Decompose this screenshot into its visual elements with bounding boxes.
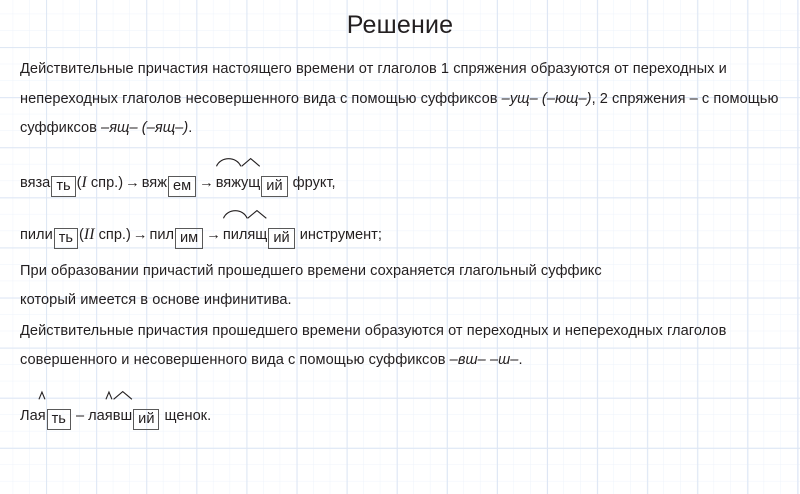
paragraph-present-tense-part4: . bbox=[188, 120, 192, 136]
example-pilit-ending-box: ть bbox=[54, 228, 78, 249]
body-block: Действительные причастия настоящего врем… bbox=[20, 55, 780, 431]
example-pilit: пилить(II спр.)→пилим→пилящий инструмент… bbox=[20, 220, 780, 251]
page-title: Решение bbox=[0, 0, 800, 40]
paragraph-present-tense: Действительные причастия настоящего врем… bbox=[20, 55, 780, 144]
example-vyazat-arrow-1: → bbox=[123, 175, 142, 191]
example-layavshiy-participle-suffix-marked: вш bbox=[113, 402, 132, 432]
suffix-caret-icon bbox=[241, 158, 260, 167]
suffix-yasch: –ящ– (–ящ–) bbox=[101, 120, 188, 136]
paragraph-past-tense-part1: Действительные причастия прошедшего врем… bbox=[20, 323, 726, 369]
example-vyazat-ending-box: ть bbox=[51, 176, 75, 197]
paragraph-past-tense-rule-line2: который имеется в основе инфинитива. bbox=[20, 292, 292, 308]
example-pilit-suffix: ящ bbox=[247, 227, 267, 243]
example-layat-dash: – bbox=[76, 408, 84, 424]
example-pilit-suffix-marked: ящ bbox=[247, 221, 267, 251]
suffix-caret-icon bbox=[38, 391, 46, 400]
example-layavshiy-ending-box: ий bbox=[133, 409, 159, 430]
example-pilit-ending-box-3: ий bbox=[268, 228, 294, 249]
example-vyazat-ending-box-2: ем bbox=[168, 176, 196, 197]
paragraph-past-tense: Действительные причастия прошедшего врем… bbox=[20, 317, 780, 376]
suffix-usch: –ущ– bbox=[502, 91, 538, 107]
example-pilit-present-form: пилим bbox=[149, 221, 204, 251]
example-vyazat-root-marked: вяж bbox=[216, 169, 241, 199]
example-vyazat-infinitive: вязать bbox=[20, 169, 77, 199]
example-vyazat-arrow-2: → bbox=[197, 175, 216, 191]
paragraph-past-tense-rule: При образовании причастий прошедшего вре… bbox=[20, 257, 780, 316]
example-vyazat: вязать(I спр.)→вяжем→вяжущий фрукт, bbox=[20, 168, 780, 199]
example-layat: Лаять – лаявший щенок. bbox=[20, 402, 780, 432]
example-layavshiy-noun: щенок. bbox=[165, 408, 212, 424]
example-pilit-root: пил bbox=[223, 227, 248, 243]
example-layat-stem: Ла bbox=[20, 408, 38, 424]
example-pilit-root-marked: пил bbox=[223, 221, 248, 251]
example-layat-infinitive: Лаять bbox=[20, 402, 72, 432]
suffix-sh: –ш– bbox=[490, 352, 519, 368]
paragraph-past-tense-rule-line1: При образовании причастий прошедшего вре… bbox=[20, 263, 602, 279]
example-layat-suffix-marked: я bbox=[38, 402, 46, 432]
example-vyazat-participle: вяжущий bbox=[216, 169, 289, 199]
example-vyazat-root: вяж bbox=[216, 175, 241, 191]
suffix-yusch: (–ющ–) bbox=[542, 91, 592, 107]
example-pilit-conj-label: спр.) bbox=[95, 227, 131, 243]
root-arc-icon bbox=[223, 210, 248, 219]
example-layavshiy-stem: ла bbox=[88, 408, 105, 424]
example-layat-ending-box: ть bbox=[47, 409, 71, 430]
example-vyazat-noun: фрукт, bbox=[293, 175, 336, 191]
example-pilit-noun: инструмент; bbox=[300, 227, 382, 243]
example-layavshiy-verbal-suffix: я bbox=[105, 408, 113, 424]
suffix-caret-icon bbox=[113, 391, 132, 400]
example-pilit-conj-roman: II bbox=[84, 226, 95, 243]
paragraph-past-tense-part3: . bbox=[518, 352, 522, 368]
example-pilit-infinitive: пилить bbox=[20, 221, 79, 251]
example-pilit-stem2: пил bbox=[149, 227, 174, 243]
example-vyazat-conj-label: спр.) bbox=[87, 175, 123, 191]
example-vyazat-ending-box-3: ий bbox=[261, 176, 287, 197]
example-layat-suffix: я bbox=[38, 408, 46, 424]
example-vyazat-present-form: вяжем bbox=[142, 169, 197, 199]
suffix-caret-icon bbox=[105, 391, 113, 400]
example-vyazat-suffix-marked: ущ bbox=[241, 169, 260, 199]
example-pilit-stem: пили bbox=[20, 227, 53, 243]
suffix-vsh: –вш– bbox=[450, 352, 486, 368]
example-vyazat-suffix: ущ bbox=[241, 175, 260, 191]
example-layavshiy-verbal-suffix-marked: я bbox=[105, 402, 113, 432]
example-layavshiy-participle-suffix: вш bbox=[113, 408, 132, 424]
example-layavshiy-participle: лаявший bbox=[88, 402, 160, 432]
example-pilit-participle: пилящий bbox=[223, 221, 296, 251]
lesson-content: Решение Действительные причастия настоящ… bbox=[0, 0, 800, 494]
example-pilit-arrow-1: → bbox=[131, 227, 150, 243]
example-pilit-ending-box-2: им bbox=[175, 228, 203, 249]
root-arc-icon bbox=[216, 158, 241, 167]
suffix-caret-icon bbox=[247, 210, 267, 219]
example-vyazat-stem2: вяж bbox=[142, 175, 167, 191]
example-vyazat-stem: вяза bbox=[20, 175, 50, 191]
example-pilit-arrow-2: → bbox=[204, 227, 223, 243]
